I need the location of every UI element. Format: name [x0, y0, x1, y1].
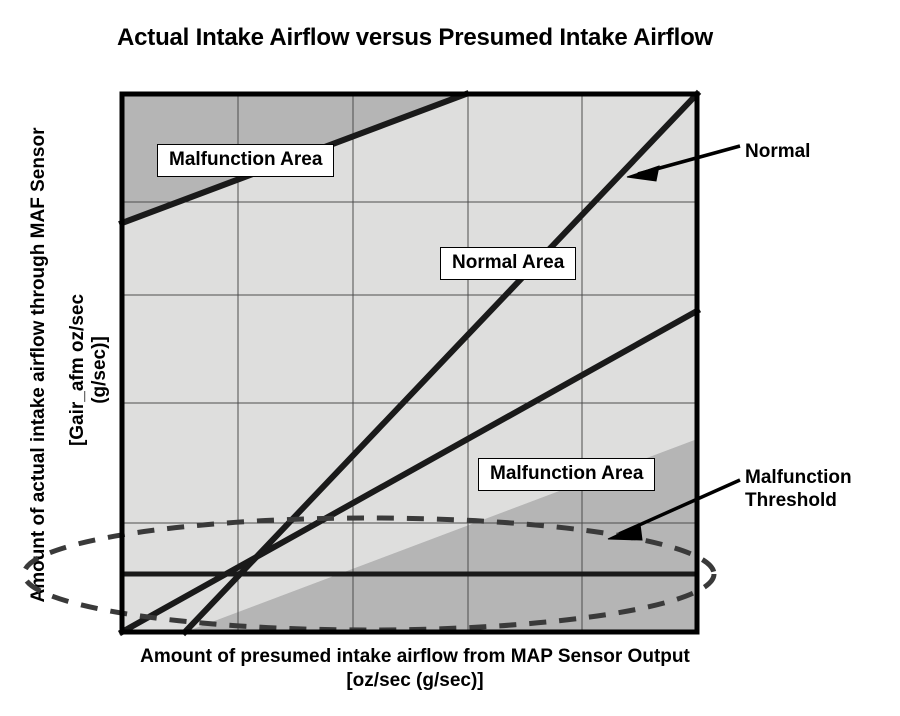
x-axis-label-group: Amount of presumed intake airflow from M…: [70, 645, 760, 693]
diagram-page: Actual Intake Airflow versus Presumed In…: [0, 0, 900, 716]
callout-normal-area: Normal Area: [440, 247, 576, 280]
x-axis-units: [oz/sec (g/sec)]: [70, 669, 760, 693]
callout-malfunction-area-upper: Malfunction Area: [157, 144, 334, 177]
x-axis-label: Amount of presumed intake airflow from M…: [70, 645, 760, 669]
y-axis-label-group: Amount of actual intake airflow through …: [22, 90, 56, 640]
page-title: Actual Intake Airflow versus Presumed In…: [0, 24, 830, 52]
y-axis-units: [Gair_afm oz/sec (g/sec)]: [67, 265, 111, 475]
annotation-normal: Normal: [745, 140, 810, 163]
annotation-malfunction-threshold: Malfunction Threshold: [745, 466, 852, 512]
plot-area: Malfunction Area Normal Area Malfunction…: [122, 94, 697, 632]
y-axis-label: Amount of actual intake airflow through …: [28, 127, 50, 602]
callout-malfunction-area-lower: Malfunction Area: [478, 458, 655, 491]
y-axis-units-group: [Gair_afm oz/sec (g/sec)]: [74, 270, 104, 470]
